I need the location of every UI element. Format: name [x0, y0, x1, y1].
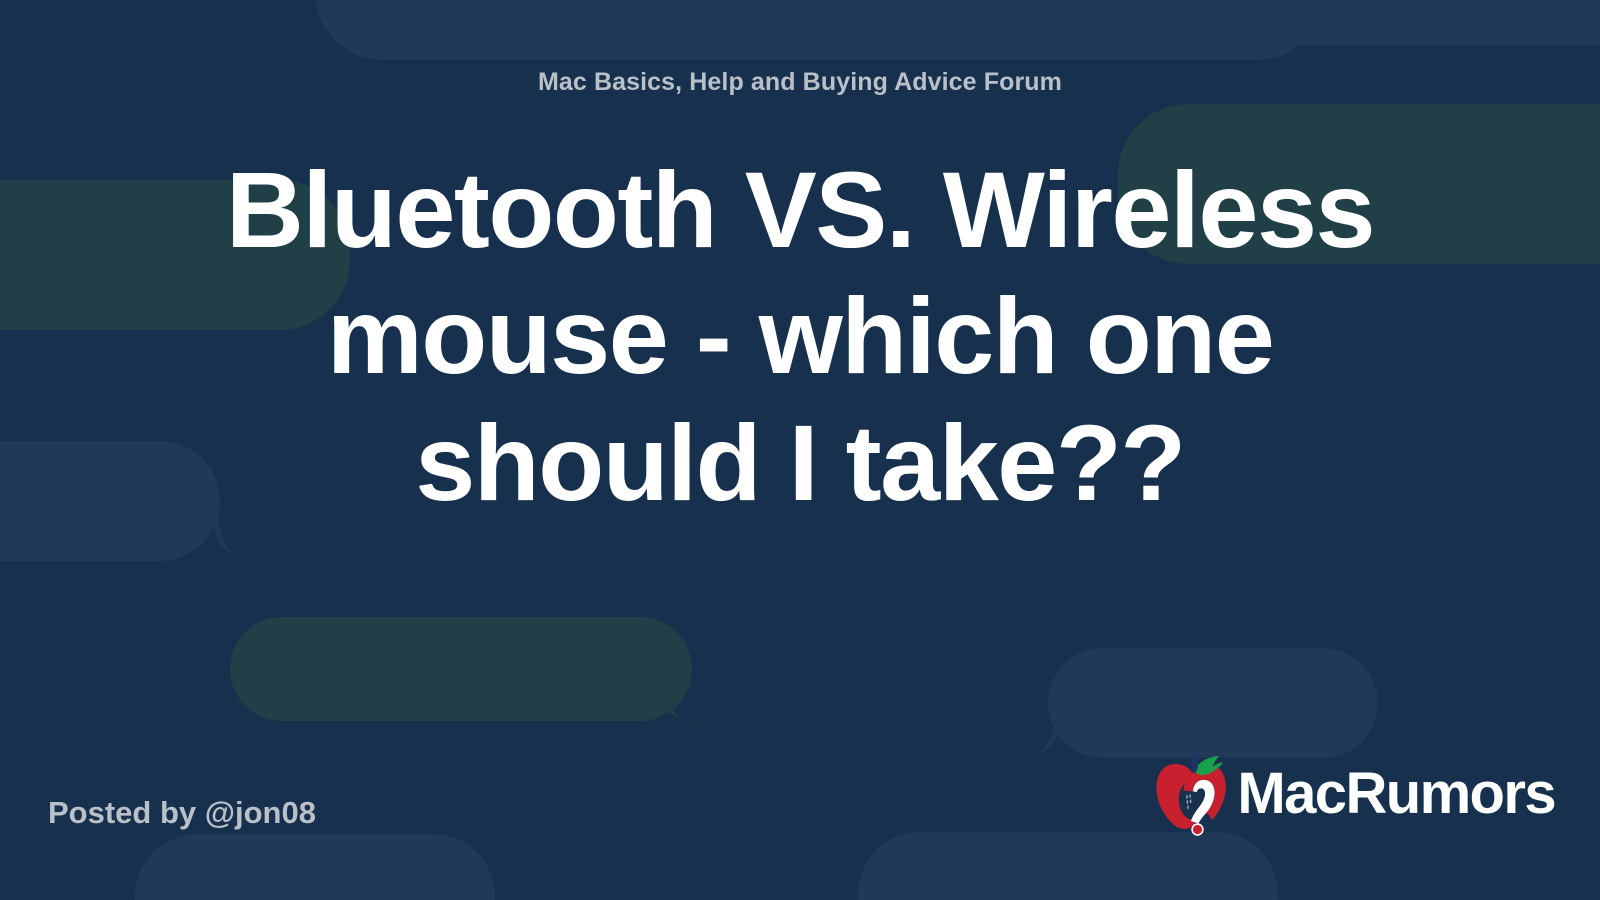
posted-by-byline: Posted by @jon08	[48, 797, 316, 828]
thread-title: Bluetooth VS. Wireless mouse - which one…	[220, 147, 1380, 526]
apple-texture-ticks	[1187, 794, 1192, 809]
macrumors-logo-lockup: MacRumors	[1153, 750, 1555, 838]
macrumors-apple-question-mark-logo-icon	[1153, 750, 1229, 838]
macrumors-wordmark: MacRumors	[1237, 765, 1555, 823]
apple-left-lobe	[1157, 764, 1195, 829]
forum-name: Mac Basics, Help and Buying Advice Forum	[538, 70, 1062, 95]
question-mark-dot	[1193, 825, 1202, 834]
macrumors-thread-social-card: Mac Basics, Help and Buying Advice Forum…	[0, 0, 1600, 900]
